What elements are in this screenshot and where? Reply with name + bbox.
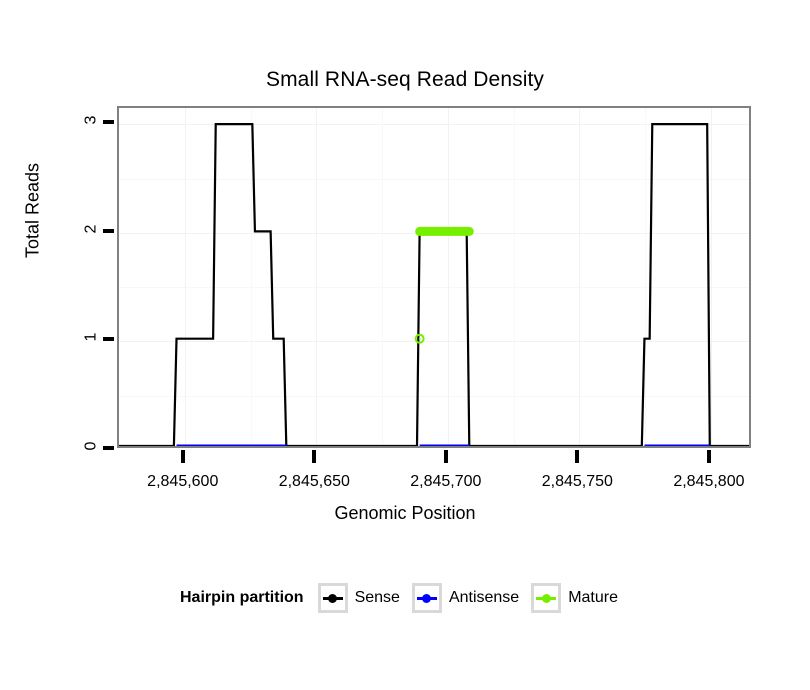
y-tick-label-text: 3 bbox=[83, 116, 101, 125]
y-tick-label-text: 1 bbox=[83, 333, 101, 342]
legend-title: Hairpin partition bbox=[180, 589, 304, 607]
chart-figure: Small RNA-seq Read Density Total Reads G… bbox=[0, 0, 810, 690]
y-tick-label: 2 bbox=[0, 220, 96, 238]
legend-key-mature bbox=[531, 583, 561, 613]
y-tick-mark bbox=[103, 229, 114, 233]
y-tick-label-text: 2 bbox=[83, 224, 101, 233]
y-tick-mark bbox=[103, 337, 114, 341]
legend-label: Sense bbox=[355, 589, 400, 607]
legend-key-sense bbox=[318, 583, 348, 613]
legend-entry-antisense[interactable]: Antisense bbox=[412, 583, 519, 613]
y-tick-label: 3 bbox=[0, 111, 96, 129]
legend-entries: SenseAntisenseMature bbox=[318, 583, 630, 613]
y-tick-label: 1 bbox=[0, 328, 96, 346]
chart-legend: Hairpin partition SenseAntisenseMature bbox=[0, 583, 810, 613]
x-tick-mark bbox=[444, 450, 448, 463]
x-tick-mark bbox=[575, 450, 579, 463]
chart-title: Small RNA-seq Read Density bbox=[0, 68, 810, 92]
x-tick-label: 2,845,600 bbox=[113, 473, 253, 491]
plot-area bbox=[119, 108, 749, 446]
x-tick-label: 2,845,750 bbox=[507, 473, 647, 491]
y-tick-mark bbox=[103, 120, 114, 124]
plot-panel bbox=[117, 106, 751, 448]
legend-label: Mature bbox=[568, 589, 618, 607]
x-tick-mark bbox=[707, 450, 711, 463]
legend-key-antisense bbox=[412, 583, 442, 613]
x-axis-title: Genomic Position bbox=[0, 503, 810, 524]
y-tick-mark bbox=[103, 446, 114, 450]
legend-key-dot bbox=[422, 594, 431, 603]
y-axis-title: Total Reads bbox=[23, 116, 44, 306]
legend-entry-mature[interactable]: Mature bbox=[531, 583, 618, 613]
data-series-layer bbox=[119, 108, 749, 446]
series-line-sense bbox=[119, 124, 749, 446]
x-tick-label: 2,845,800 bbox=[639, 473, 779, 491]
series-point-mature bbox=[419, 338, 421, 340]
y-tick-label: 0 bbox=[0, 437, 96, 455]
x-tick-label: 2,845,700 bbox=[376, 473, 516, 491]
y-tick-label-text: 0 bbox=[83, 442, 101, 451]
legend-entry-sense[interactable]: Sense bbox=[318, 583, 400, 613]
legend-label: Antisense bbox=[449, 589, 519, 607]
x-tick-mark bbox=[312, 450, 316, 463]
x-tick-mark bbox=[181, 450, 185, 463]
legend-key-dot bbox=[542, 594, 551, 603]
legend-key-dot bbox=[328, 594, 337, 603]
x-tick-label: 2,845,650 bbox=[244, 473, 384, 491]
